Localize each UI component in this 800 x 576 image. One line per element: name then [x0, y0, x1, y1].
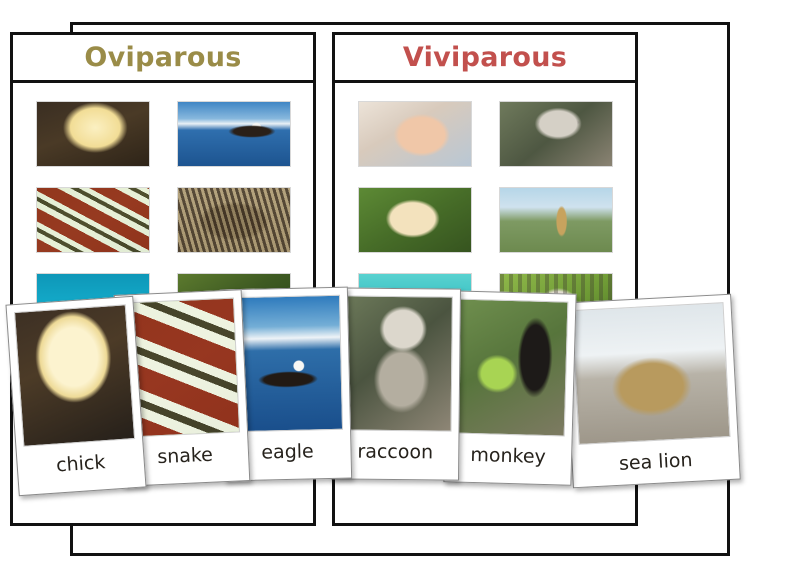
- panel-title-box-viviparous: Viviparous: [335, 35, 635, 83]
- thumbnail-eagle: [177, 101, 291, 167]
- card-photo-monkey: [453, 298, 569, 436]
- thumbnail-echidna: [177, 187, 291, 253]
- thumbnail-puppy: [358, 187, 472, 253]
- thumbnail-snake: [36, 187, 150, 253]
- thumbnail-giraffe: [499, 187, 613, 253]
- card-label-raccoon: raccoon: [339, 430, 451, 472]
- card-label-chick: chick: [23, 439, 138, 488]
- card-label-sea-lion: sea lion: [579, 437, 733, 486]
- card-photo-raccoon: [340, 295, 453, 431]
- thumbnail-chick: [36, 101, 150, 167]
- page-title-viviparous: Viviparous: [403, 42, 567, 73]
- thumbnail-baby: [358, 101, 472, 167]
- document-canvas: Oviparous Viviparous chicksnakeeagleracc…: [0, 0, 800, 576]
- card-label-monkey: monkey: [452, 433, 565, 477]
- picture-card-chick[interactable]: chick: [5, 296, 146, 496]
- card-photo-chick: [14, 304, 135, 446]
- picture-card-sea-lion[interactable]: sea lion: [563, 294, 741, 489]
- picture-card-monkey[interactable]: monkey: [443, 290, 576, 485]
- page-title-oviparous: Oviparous: [84, 42, 241, 73]
- panel-title-box-oviparous: Oviparous: [13, 35, 313, 83]
- thumbnail-raccoon: [499, 101, 613, 167]
- card-photo-sea-lion: [572, 302, 731, 445]
